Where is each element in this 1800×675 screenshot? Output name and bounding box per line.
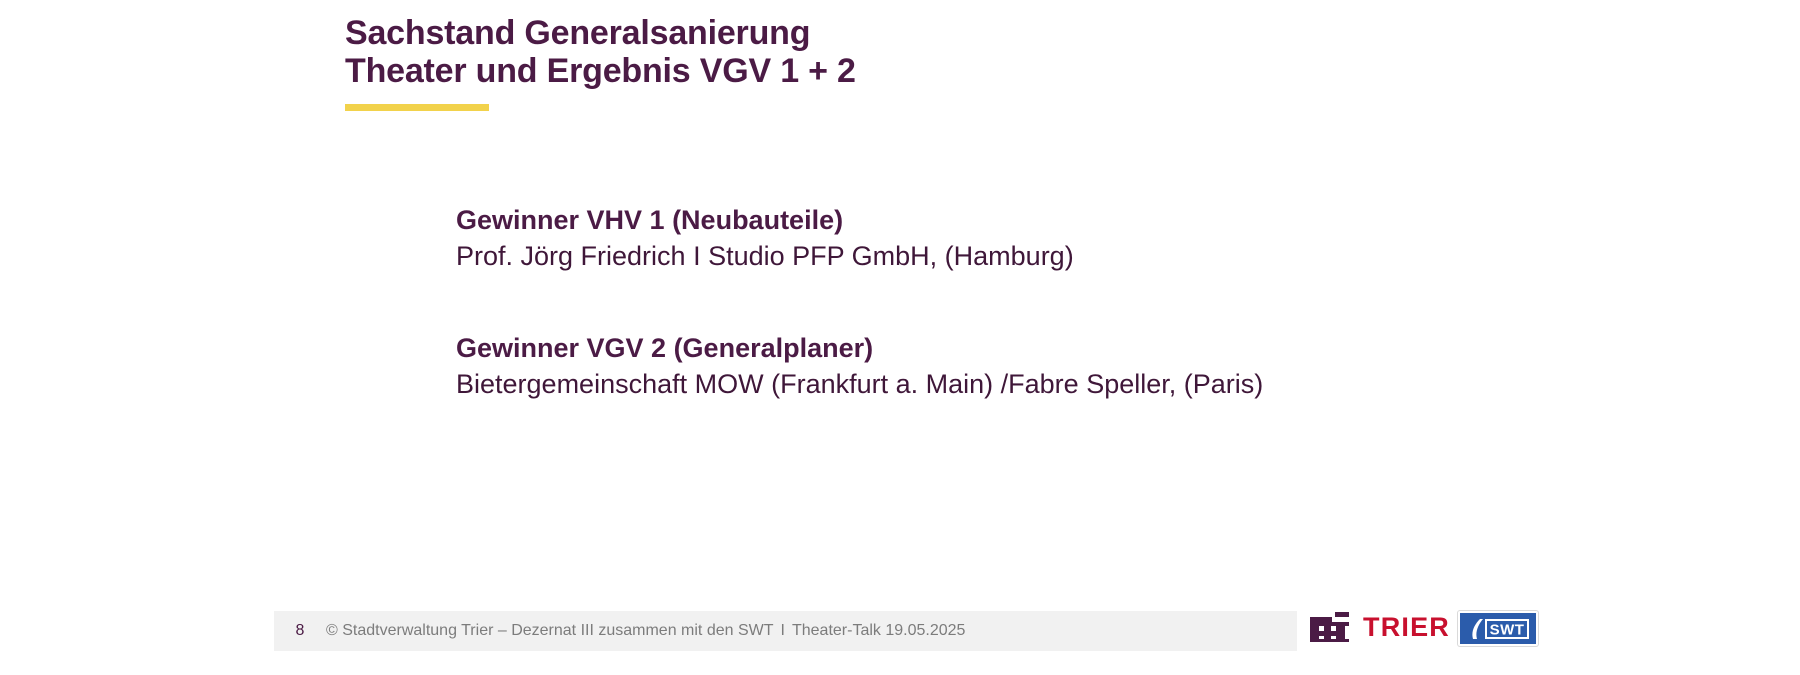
- page-title: Sachstand Generalsanierung Theater und E…: [345, 14, 1345, 90]
- slide-footer: 8 © Stadtverwaltung Trier – Dezernat III…: [274, 611, 1297, 651]
- swt-logo: SWT: [1458, 611, 1538, 646]
- award-group: Gewinner VGV 2 (Generalplaner) Bietergem…: [456, 331, 1656, 401]
- svg-text:SWT: SWT: [1490, 621, 1525, 638]
- footer-copyright: © Stadtverwaltung Trier – Dezernat III z…: [326, 622, 774, 639]
- footer-separator: I: [774, 622, 792, 640]
- award-winner: Prof. Jörg Friedrich I Studio PFP GmbH, …: [456, 239, 1656, 273]
- award-winner: Bietergemeinschaft MOW (Frankfurt a. Mai…: [456, 367, 1656, 401]
- page-number: 8: [274, 622, 326, 640]
- award-group: Gewinner VHV 1 (Neubauteile) Prof. Jörg …: [456, 203, 1656, 273]
- footer-text: © Stadtverwaltung Trier – Dezernat III z…: [326, 622, 965, 640]
- title-accent-rule: [345, 104, 489, 111]
- content-body: Gewinner VHV 1 (Neubauteile) Prof. Jörg …: [456, 203, 1656, 401]
- award-heading: Gewinner VGV 2 (Generalplaner): [456, 331, 1656, 365]
- slide-canvas: Sachstand Generalsanierung Theater und E…: [0, 0, 1800, 675]
- trier-logo: TRIER: [1310, 609, 1450, 645]
- title-line-1: Sachstand Generalsanierung: [345, 14, 1345, 52]
- logo-strip: TRIER SWT: [1310, 605, 1550, 651]
- footer-event: Theater-Talk 19.05.2025: [792, 622, 965, 639]
- award-heading: Gewinner VHV 1 (Neubauteile): [456, 203, 1656, 237]
- trier-wordmark: TRIER: [1363, 613, 1450, 641]
- title-line-2: Theater und Ergebnis VGV 1 + 2: [345, 52, 1345, 90]
- porta-nigra-icon: [1310, 612, 1356, 642]
